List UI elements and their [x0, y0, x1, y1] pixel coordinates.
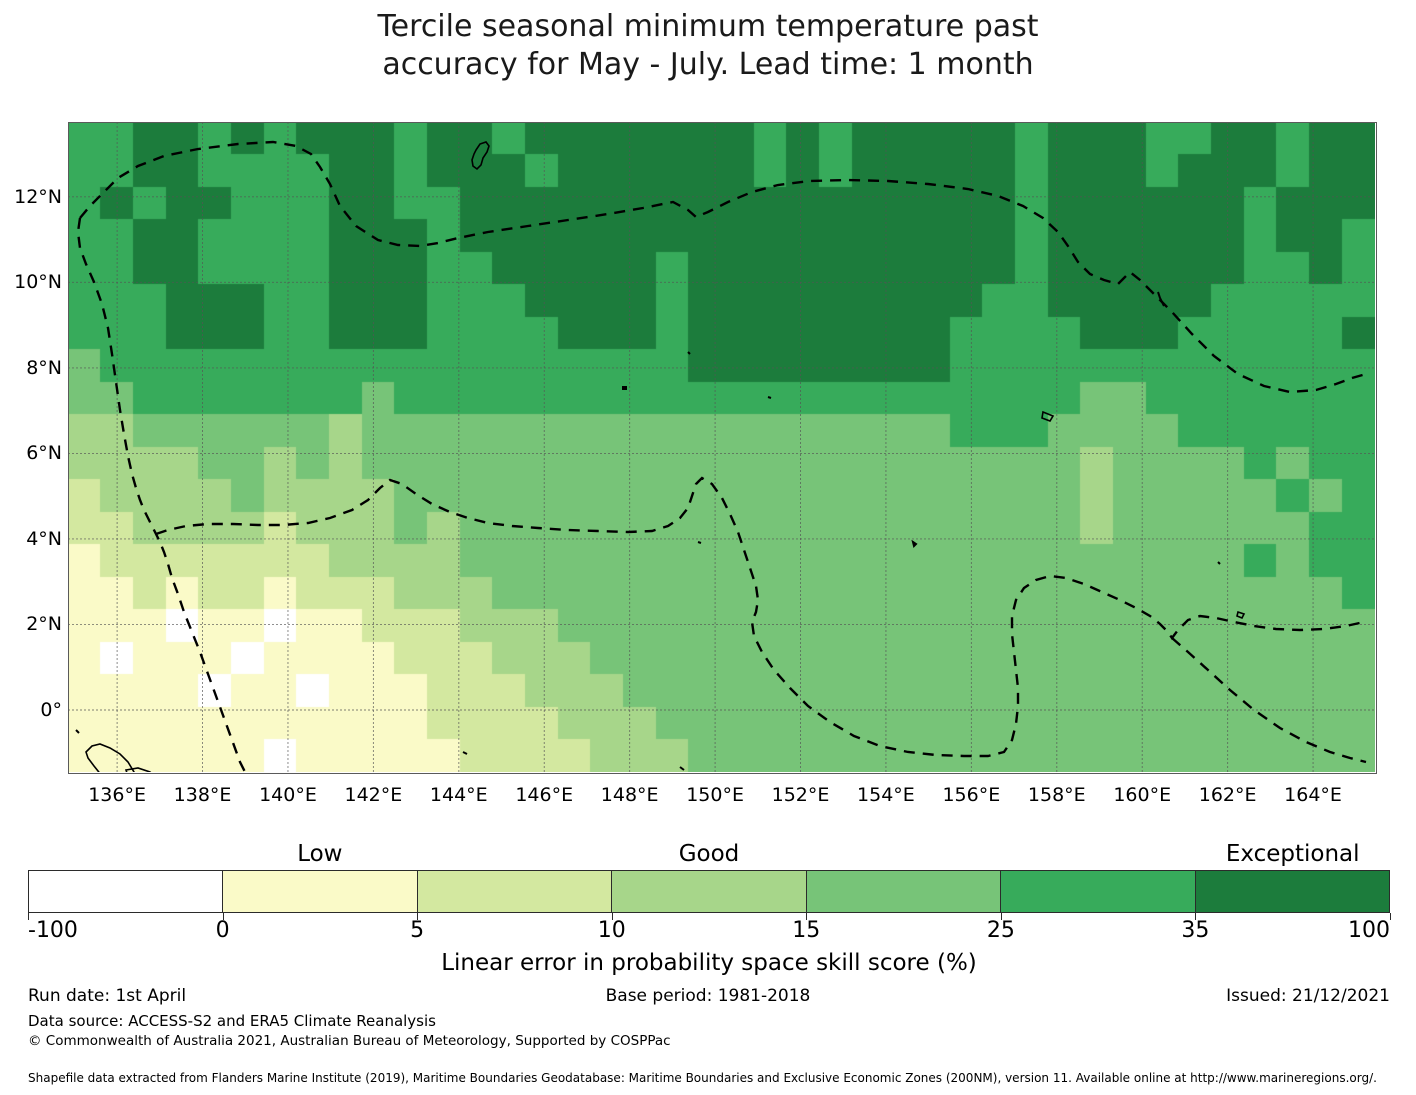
- eez-boundary-north: [80, 142, 1366, 392]
- longitude-axis: 136°E138°E140°E142°E144°E146°E148°E150°E…: [68, 786, 1375, 810]
- island-outline-guam: [472, 142, 489, 169]
- colorbar-segment-2[interactable]: [418, 871, 612, 912]
- latitude-tick-label: 10°N: [0, 273, 62, 292]
- latitude-tick-label: 8°N: [0, 359, 62, 378]
- island-speck-a: [623, 387, 626, 389]
- colorbar-gradient-strip[interactable]: [28, 870, 1390, 913]
- footer-base-period: Base period: 1981-2018: [0, 985, 1416, 1007]
- colorbar-quality-label-good: Good: [579, 840, 839, 868]
- colorbar-quality-label-low: Low: [190, 840, 450, 868]
- colorbar-tick-label: 5: [357, 919, 477, 943]
- page-title: Tercile seasonal minimum temperature pas…: [0, 8, 1416, 84]
- eez-boundary: [78, 142, 1366, 772]
- colorbar-segment-4[interactable]: [807, 871, 1001, 912]
- colorbar-segment-1[interactable]: [223, 871, 417, 912]
- island-speck-j: [1218, 562, 1220, 564]
- map-vector-overlay: [68, 122, 1375, 772]
- map-gridlines: [68, 122, 1375, 772]
- island-speck-g: [1237, 612, 1244, 618]
- footer-data-source: Data source: ACCESS-S2 and ERA5 Climate …: [28, 1011, 436, 1031]
- island-chain-southwest: [86, 744, 138, 772]
- latitude-tick-label: 2°N: [0, 615, 62, 634]
- island-speck-h: [1158, 292, 1164, 306]
- footer-issued-date: Issued: 21/12/2021: [1226, 985, 1390, 1007]
- colorbar-tick-label: -100: [28, 919, 148, 943]
- footer-copyright: © Commonwealth of Australia 2021, Austra…: [28, 1032, 671, 1050]
- colorbar-tickmark: [1390, 913, 1391, 920]
- island-speck-e: [913, 542, 916, 546]
- colorbar-tick-label: 10: [552, 919, 672, 943]
- eez-boundary-west: [78, 218, 246, 772]
- coastline-outlines: [76, 142, 1375, 772]
- colorbar-segment-6[interactable]: [1196, 871, 1389, 912]
- eez-boundary-central: [156, 478, 1364, 756]
- longitude-tick-label: 164°E: [1258, 786, 1368, 805]
- colorbar-tick-label: 35: [1135, 919, 1255, 943]
- island-speck-sw: [76, 730, 79, 733]
- latitude-tick-label: 12°N: [0, 188, 62, 207]
- island-speck-f: [1042, 412, 1053, 421]
- latitude-tick-label: 0°: [0, 701, 62, 720]
- latitude-tick-label: 4°N: [0, 530, 62, 549]
- colorbar-tick-label: 100: [1270, 919, 1390, 943]
- island-speck-c: [768, 397, 771, 398]
- figure-footer: Run date: 1st April Base period: 1981-20…: [0, 985, 1416, 1011]
- colorbar-tick-row: -1000510152535100: [28, 913, 1390, 943]
- colorbar[interactable]: LowGoodExceptional -1000510152535100 Lin…: [28, 840, 1390, 977]
- footer-shapefile-attribution: Shapefile data extracted from Flanders M…: [28, 1070, 1377, 1086]
- island-speck-k: [680, 767, 684, 770]
- colorbar-quality-label-exceptional: Exceptional: [1163, 840, 1416, 868]
- colorbar-tick-label: 25: [941, 919, 1061, 943]
- latitude-tick-label: 6°N: [0, 444, 62, 463]
- colorbar-tick-label: 15: [746, 919, 866, 943]
- map-plot-area[interactable]: [68, 122, 1375, 772]
- island-speck-d: [698, 542, 701, 543]
- colorbar-segment-3[interactable]: [612, 871, 806, 912]
- colorbar-segment-0[interactable]: [29, 871, 223, 912]
- island-speck-b: [688, 352, 690, 354]
- colorbar-axis-label: Linear error in probability space skill …: [28, 949, 1390, 977]
- eez-boundary-east: [1172, 638, 1366, 762]
- latitude-axis: 12°N10°N8°N6°N4°N2°N0°: [0, 122, 62, 772]
- colorbar-segment-5[interactable]: [1001, 871, 1195, 912]
- colorbar-tick-label: 0: [163, 919, 283, 943]
- island-speck-l: [463, 752, 467, 754]
- colorbar-quality-labels: LowGoodExceptional: [28, 840, 1390, 870]
